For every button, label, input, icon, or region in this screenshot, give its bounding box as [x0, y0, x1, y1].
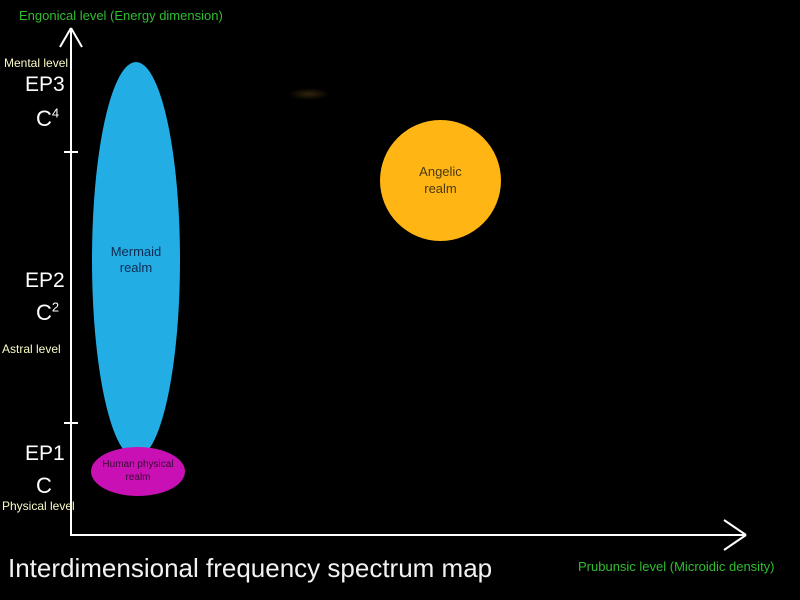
x-axis-arrow-icon: [722, 518, 748, 552]
interdimensional-frequency-spectrum-map: Engonical level (Energy dimension) Prubu…: [0, 0, 800, 600]
c-exponent-2: 2: [52, 300, 59, 315]
x-axis-line: [70, 534, 746, 536]
axis-label-astral-level: Astral level: [2, 342, 61, 356]
axis-label-mental-level: Mental level: [4, 56, 68, 70]
axis-label-ep2: EP2: [25, 269, 65, 293]
realm-angelic-label: Angelic realm: [419, 164, 462, 197]
axis-label-ep3: EP3: [25, 73, 65, 97]
c-exponent-4: 4: [52, 106, 59, 121]
y-axis-arrow-icon: [56, 26, 86, 50]
realm-angelic: Angelic realm: [380, 120, 501, 241]
y-axis-caption: Engonical level (Energy dimension): [19, 8, 223, 23]
background-artifact: [288, 88, 330, 100]
chart-title: Interdimensional frequency spectrum map: [8, 553, 492, 584]
x-axis-caption: Prubunsic level (Microidic density): [578, 559, 775, 574]
y-axis-tick-lower: [64, 422, 78, 424]
axis-label-c-power-2: C2: [36, 300, 59, 326]
y-axis-tick-upper: [64, 151, 78, 153]
c-base-1: C: [36, 473, 52, 498]
c-base-3: C: [36, 106, 52, 131]
realm-human-physical-label: Human physical realm: [102, 459, 173, 484]
y-axis-line: [70, 30, 72, 536]
axis-label-physical-level: Physical level: [2, 499, 75, 513]
realm-human-physical: Human physical realm: [91, 447, 185, 496]
axis-label-c-power-4: C4: [36, 106, 59, 132]
axis-label-c: C: [36, 473, 52, 499]
axis-label-ep1: EP1: [25, 442, 65, 466]
realm-mermaid-label: Mermaid realm: [111, 244, 162, 277]
c-base-2: C: [36, 300, 52, 325]
realm-mermaid: Mermaid realm: [92, 62, 180, 458]
